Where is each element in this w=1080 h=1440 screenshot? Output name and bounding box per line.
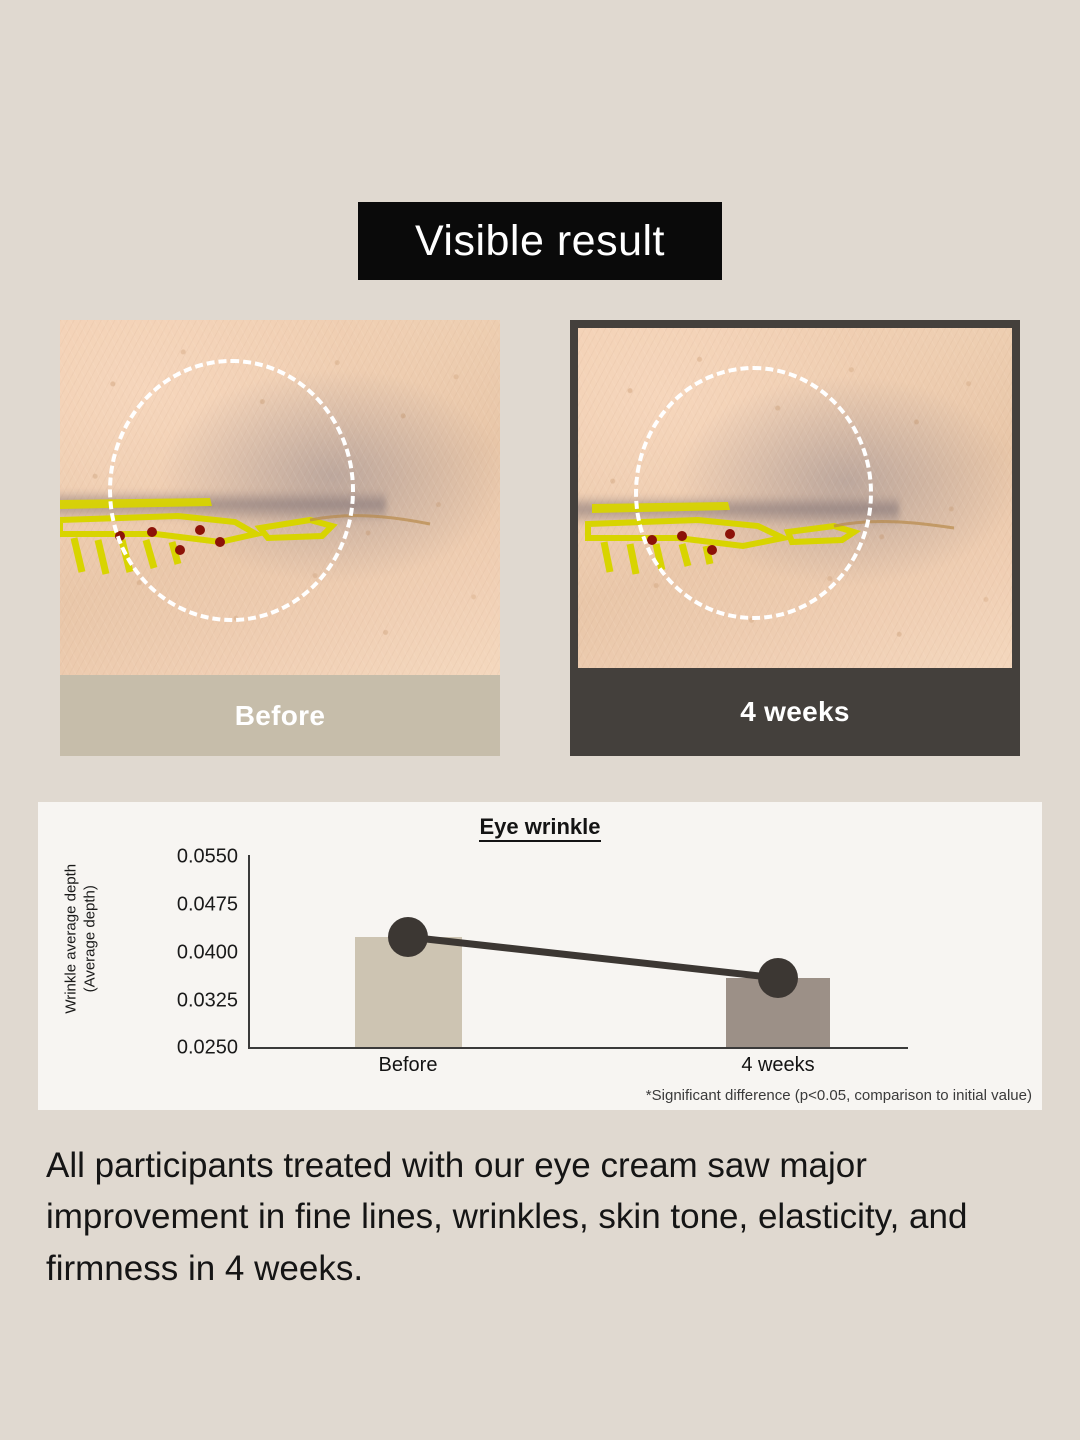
chart-y-axis-line: [248, 855, 250, 1049]
promo-page: Visible result: [0, 0, 1080, 1440]
chart-bar-before: [355, 937, 462, 1047]
y-tick-label: 0.0250: [156, 1037, 238, 1060]
after-panel: 4 weeks: [570, 320, 1020, 756]
chart-x-axis-line: [248, 1047, 908, 1049]
chart-plot-area: 0.0550 0.0475 0.0400 0.0325 0.0250 Befor…: [38, 802, 1042, 1110]
before-after-comparison: Before: [0, 320, 1080, 756]
y-tick-label: 0.0475: [156, 894, 238, 917]
headline-banner: Visible result: [358, 202, 722, 280]
dashed-circle-icon: [108, 359, 354, 622]
before-skin-photo: [60, 320, 500, 675]
after-label: 4 weeks: [740, 696, 850, 728]
headline-text: Visible result: [415, 220, 665, 263]
x-tick-label-4-weeks: 4 weeks: [741, 1054, 814, 1077]
chart-footnote: *Significant difference (p<0.05, compari…: [646, 1087, 1032, 1104]
after-skin-photo: [578, 328, 1012, 676]
summary-paragraph: All participants treated with our eye cr…: [46, 1140, 1006, 1294]
dashed-circle-icon: [634, 366, 873, 620]
y-tick-label: 0.0400: [156, 942, 238, 965]
chart-bar-4-weeks: [726, 978, 830, 1047]
before-label: Before: [235, 700, 326, 732]
y-tick-label: 0.0325: [156, 990, 238, 1013]
before-label-bar: Before: [60, 675, 500, 756]
x-tick-label-before: Before: [379, 1054, 438, 1077]
eye-wrinkle-chart-card: Eye wrinkle Wrinkle average depth (Avera…: [38, 802, 1042, 1110]
y-tick-label: 0.0550: [156, 846, 238, 869]
after-label-bar: 4 weeks: [570, 668, 1020, 756]
before-panel: Before: [60, 320, 500, 756]
